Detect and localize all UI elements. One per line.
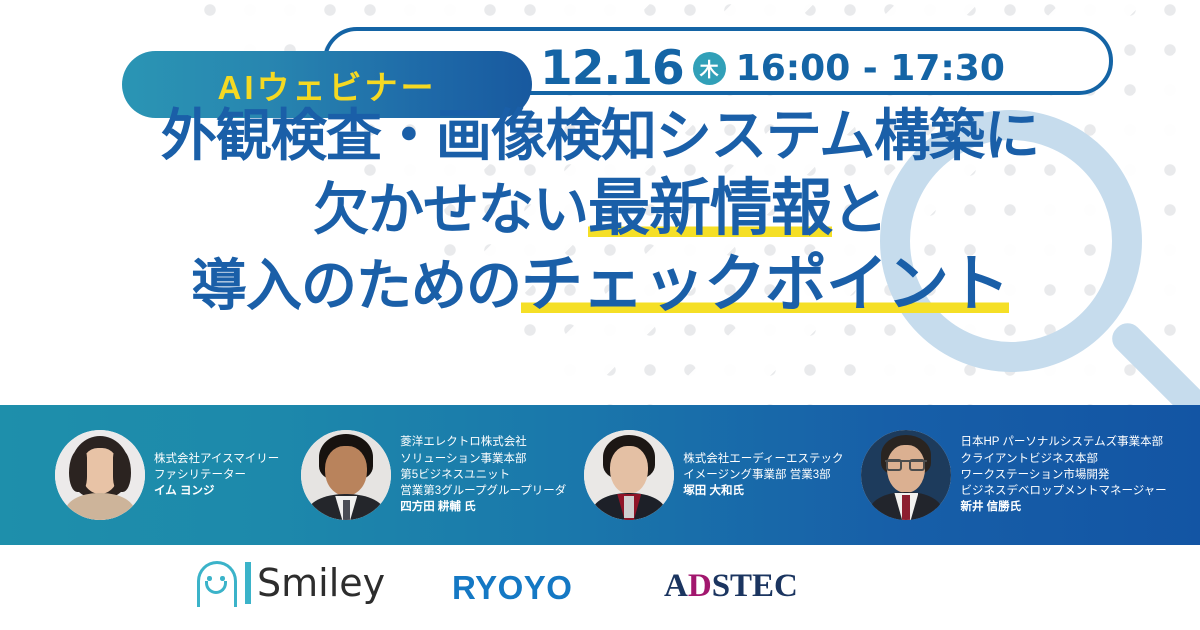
speaker-extra-1: ワークステーション市場開発 bbox=[960, 467, 1166, 483]
speaker-company: 日本HP パーソナルシステムズ事業本部 bbox=[960, 434, 1166, 450]
speaker-info: 株式会社エーディーエステック イメージング事業部 営業3部 塚田 大和氏 bbox=[674, 451, 843, 500]
header-row: 12.16 木 16:00 - 17:30 AIウェビナー bbox=[0, 25, 1200, 97]
smiley-face-icon bbox=[193, 559, 243, 607]
title-line-3-highlight: チェックポイント bbox=[521, 254, 1009, 316]
aismiley-logo: Smiley bbox=[193, 559, 385, 607]
adstec-wordmark: ADSTEC bbox=[664, 568, 798, 605]
ryoyo-wordmark: RYOYO bbox=[452, 569, 572, 607]
webinar-time: 16:00 - 17:30 bbox=[736, 51, 1005, 87]
title-line-2-tail: と bbox=[832, 178, 887, 241]
title-line-3: 導入のためのチェックポイント bbox=[0, 254, 1200, 316]
title-line-2: 欠かせない最新情報と bbox=[0, 178, 1200, 240]
aismiley-wordmark: Smiley bbox=[257, 561, 385, 605]
speaker-card: 株式会社アイスマイリー ファシリテーター イム ヨンジ bbox=[55, 405, 279, 545]
speakers-band: 株式会社アイスマイリー ファシリテーター イム ヨンジ 菱洋エレクトロ株式会社 bbox=[0, 405, 1200, 545]
title-line-2-plain: 欠かせない bbox=[313, 178, 588, 241]
speaker-card: 菱洋エレクトロ株式会社 ソリューション事業本部 第5ビジネスユニット 営業第3グ… bbox=[301, 405, 566, 545]
speaker-name: イム ヨンジ bbox=[154, 483, 279, 499]
speaker-extra-1: 第5ビジネスユニット bbox=[400, 467, 566, 483]
speaker-role: ファシリテーター bbox=[154, 467, 279, 483]
title-line-3-plain: 導入のための bbox=[191, 254, 521, 317]
speaker-extra-2: 営業第3グループグループリーダ bbox=[400, 483, 566, 499]
speaker-avatar bbox=[55, 430, 145, 520]
speaker-avatar bbox=[301, 430, 391, 520]
speaker-company: 株式会社エーディーエステック bbox=[683, 451, 843, 467]
adstec-letters-rest: STEC bbox=[712, 568, 798, 604]
speaker-avatar bbox=[861, 430, 951, 520]
webinar-date: 12.16 bbox=[540, 45, 684, 92]
ryoyo-logo: RYOYO bbox=[452, 569, 572, 607]
ai-webinar-badge-label: AIウェビナー bbox=[218, 61, 437, 109]
page-title: 外観検査・画像検知システム構築に 欠かせない最新情報と 導入のためのチェックポイ… bbox=[0, 108, 1200, 330]
speaker-role: ソリューション事業本部 bbox=[400, 451, 566, 467]
speaker-role: クライアントビジネス本部 bbox=[960, 451, 1166, 467]
speaker-extra-2: ビジネスデベロップメントマネージャー bbox=[960, 483, 1166, 499]
adstec-logo: ADSTEC bbox=[664, 568, 798, 605]
speaker-card: 日本HP パーソナルシステムズ事業本部 クライアントビジネス本部 ワークステーシ… bbox=[861, 405, 1166, 545]
date-time-group: 12.16 木 16:00 - 17:30 bbox=[540, 45, 1040, 92]
sponsor-logo-strip: Smiley RYOYO ADSTEC hp bbox=[0, 545, 1200, 630]
speaker-info: 株式会社アイスマイリー ファシリテーター イム ヨンジ bbox=[145, 451, 279, 500]
title-line-1: 外観検査・画像検知システム構築に bbox=[0, 108, 1200, 164]
speaker-name: 新井 信勝氏 bbox=[960, 499, 1166, 515]
speaker-name: 四方田 耕輔 氏 bbox=[400, 499, 566, 515]
adstec-letter-d: D bbox=[688, 568, 712, 604]
speaker-role: イメージング事業部 営業3部 bbox=[683, 467, 843, 483]
speaker-company: 株式会社アイスマイリー bbox=[154, 451, 279, 467]
webinar-banner: 12.16 木 16:00 - 17:30 AIウェビナー 外観検査・画像検知シ… bbox=[0, 0, 1200, 630]
title-line-2-highlight: 最新情報 bbox=[588, 178, 832, 240]
smiley-i-bar-icon bbox=[245, 562, 251, 604]
adstec-letter-a: A bbox=[664, 568, 688, 604]
speaker-info: 日本HP パーソナルシステムズ事業本部 クライアントビジネス本部 ワークステーシ… bbox=[951, 434, 1166, 516]
speaker-card: 株式会社エーディーエステック イメージング事業部 営業3部 塚田 大和氏 bbox=[584, 405, 843, 545]
speaker-info: 菱洋エレクトロ株式会社 ソリューション事業本部 第5ビジネスユニット 営業第3グ… bbox=[391, 434, 566, 516]
speaker-avatar bbox=[584, 430, 674, 520]
speaker-company: 菱洋エレクトロ株式会社 bbox=[400, 434, 566, 450]
weekday-badge: 木 bbox=[693, 52, 726, 85]
speaker-name: 塚田 大和氏 bbox=[683, 483, 843, 499]
